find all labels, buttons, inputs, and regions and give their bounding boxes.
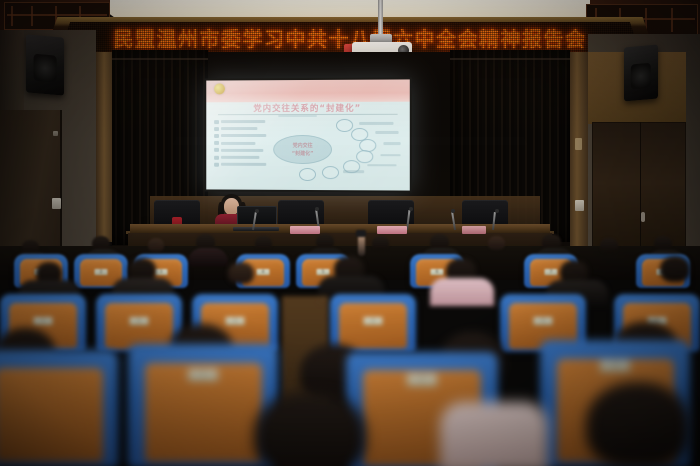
list-item xyxy=(214,162,266,166)
bullet-icon xyxy=(214,120,219,124)
list-item xyxy=(214,134,266,138)
seat-number-plate: 5 xyxy=(317,269,330,275)
projection-screen: 党内交往关系的“封建化” 党内交往 “封建化” xyxy=(204,77,412,192)
seat-number-plate: 2 xyxy=(95,269,108,275)
seat-number-plate: 2 xyxy=(407,374,437,386)
auditorium-photo: 民盟温州市委学习中共十八届六中全会精神报告会 党内交往关系的“封建化” xyxy=(0,0,700,466)
audience-head xyxy=(586,382,690,466)
seat-pad xyxy=(339,303,406,349)
bullet-icon xyxy=(214,134,219,138)
list-item xyxy=(214,120,266,124)
diagram-hub-label: 党内交往 “封建化” xyxy=(274,143,331,158)
wall-speaker-left xyxy=(26,34,64,95)
seat-number-plate: 3 xyxy=(226,317,245,325)
audience-head xyxy=(228,262,254,284)
projected-slide: 党内交往关系的“封建化” 党内交往 “封建化” xyxy=(206,79,410,190)
wall-sign-right xyxy=(575,138,582,150)
seat-number-plate: 6 xyxy=(431,269,444,275)
seat-number-plate: 3 xyxy=(155,269,168,275)
bullet-icon xyxy=(214,127,219,131)
audience-head xyxy=(148,238,164,252)
seat-number-plate: 1 xyxy=(188,369,218,381)
curtain-rod-right xyxy=(450,58,570,60)
slide-bullet-list xyxy=(214,120,266,170)
seat-number-plate: 4 xyxy=(364,317,383,325)
diagram-node-label xyxy=(359,122,393,125)
microphone-head xyxy=(315,207,319,211)
seat-pad xyxy=(0,368,103,462)
audience-head xyxy=(254,392,366,466)
seat xyxy=(0,350,118,466)
diagram-caption xyxy=(278,115,317,118)
audience-phone-icon xyxy=(356,230,366,237)
bullet-icon xyxy=(214,148,219,152)
wall-speaker-right xyxy=(624,45,658,102)
audience-shoulders xyxy=(188,248,228,266)
bullet-icon xyxy=(214,162,219,166)
seat-pad xyxy=(105,303,172,349)
diagram-node-label xyxy=(380,154,400,157)
seat-number-plate: 7 xyxy=(545,269,558,275)
curtain-rod-left xyxy=(112,58,208,60)
slide-title: 党内交往关系的“封建化” xyxy=(206,102,410,115)
diagram-node-label xyxy=(367,164,396,167)
diagram-node xyxy=(357,150,374,163)
light-switch-right[interactable] xyxy=(575,200,584,211)
seat: 4 xyxy=(330,294,416,352)
slide-diagram: 党内交往 “封建化” xyxy=(270,117,401,184)
audience-shoulders-light xyxy=(440,402,548,466)
list-item xyxy=(214,127,266,131)
speaker-cone-icon xyxy=(631,63,651,90)
audience-head xyxy=(255,236,272,250)
seat-number-plate: 4 xyxy=(257,269,270,275)
diagram-node-label xyxy=(343,170,364,173)
audience-head xyxy=(488,236,505,250)
seat-number-plate: 3 xyxy=(600,360,630,372)
audience-head xyxy=(600,238,618,253)
audience-seating: 1 2 3 4 5 6 7 xyxy=(0,232,700,466)
diagram-node-label xyxy=(375,131,399,134)
diagram-node-label xyxy=(383,143,400,146)
bullet-icon xyxy=(214,155,219,159)
light-switch-left[interactable] xyxy=(52,198,61,209)
diagram-node xyxy=(336,119,353,132)
microphone-head xyxy=(451,209,455,213)
seat-number-plate: 1 xyxy=(34,317,53,325)
seat-number-plate: 5 xyxy=(534,317,553,325)
audience-raised-arm xyxy=(358,234,365,256)
audience-head xyxy=(654,236,672,251)
diagram-hub: 党内交往 “封建化” xyxy=(273,135,332,165)
microphone-head xyxy=(255,209,259,213)
list-item xyxy=(214,148,266,152)
bullet-icon xyxy=(214,141,219,145)
audience-shoulders-pink xyxy=(430,278,494,306)
wood-column-right xyxy=(568,52,588,248)
presenter-laptop-base xyxy=(233,227,279,231)
wall-fixture-left xyxy=(53,131,58,136)
speaker-cone-icon xyxy=(34,54,57,83)
microphone-head xyxy=(409,207,413,211)
diagram-node xyxy=(299,168,316,181)
microphone-head xyxy=(495,209,499,213)
seat-number-plate: 2 xyxy=(130,317,149,325)
list-item xyxy=(214,141,266,145)
audience-head xyxy=(316,234,334,249)
slide-header-band xyxy=(206,79,410,102)
list-item xyxy=(214,155,266,159)
audience-head xyxy=(660,256,690,282)
audience-head xyxy=(372,236,389,250)
projector-mount-pole xyxy=(378,0,383,38)
door-handle-icon[interactable] xyxy=(641,212,645,222)
diagram-node xyxy=(322,166,339,179)
